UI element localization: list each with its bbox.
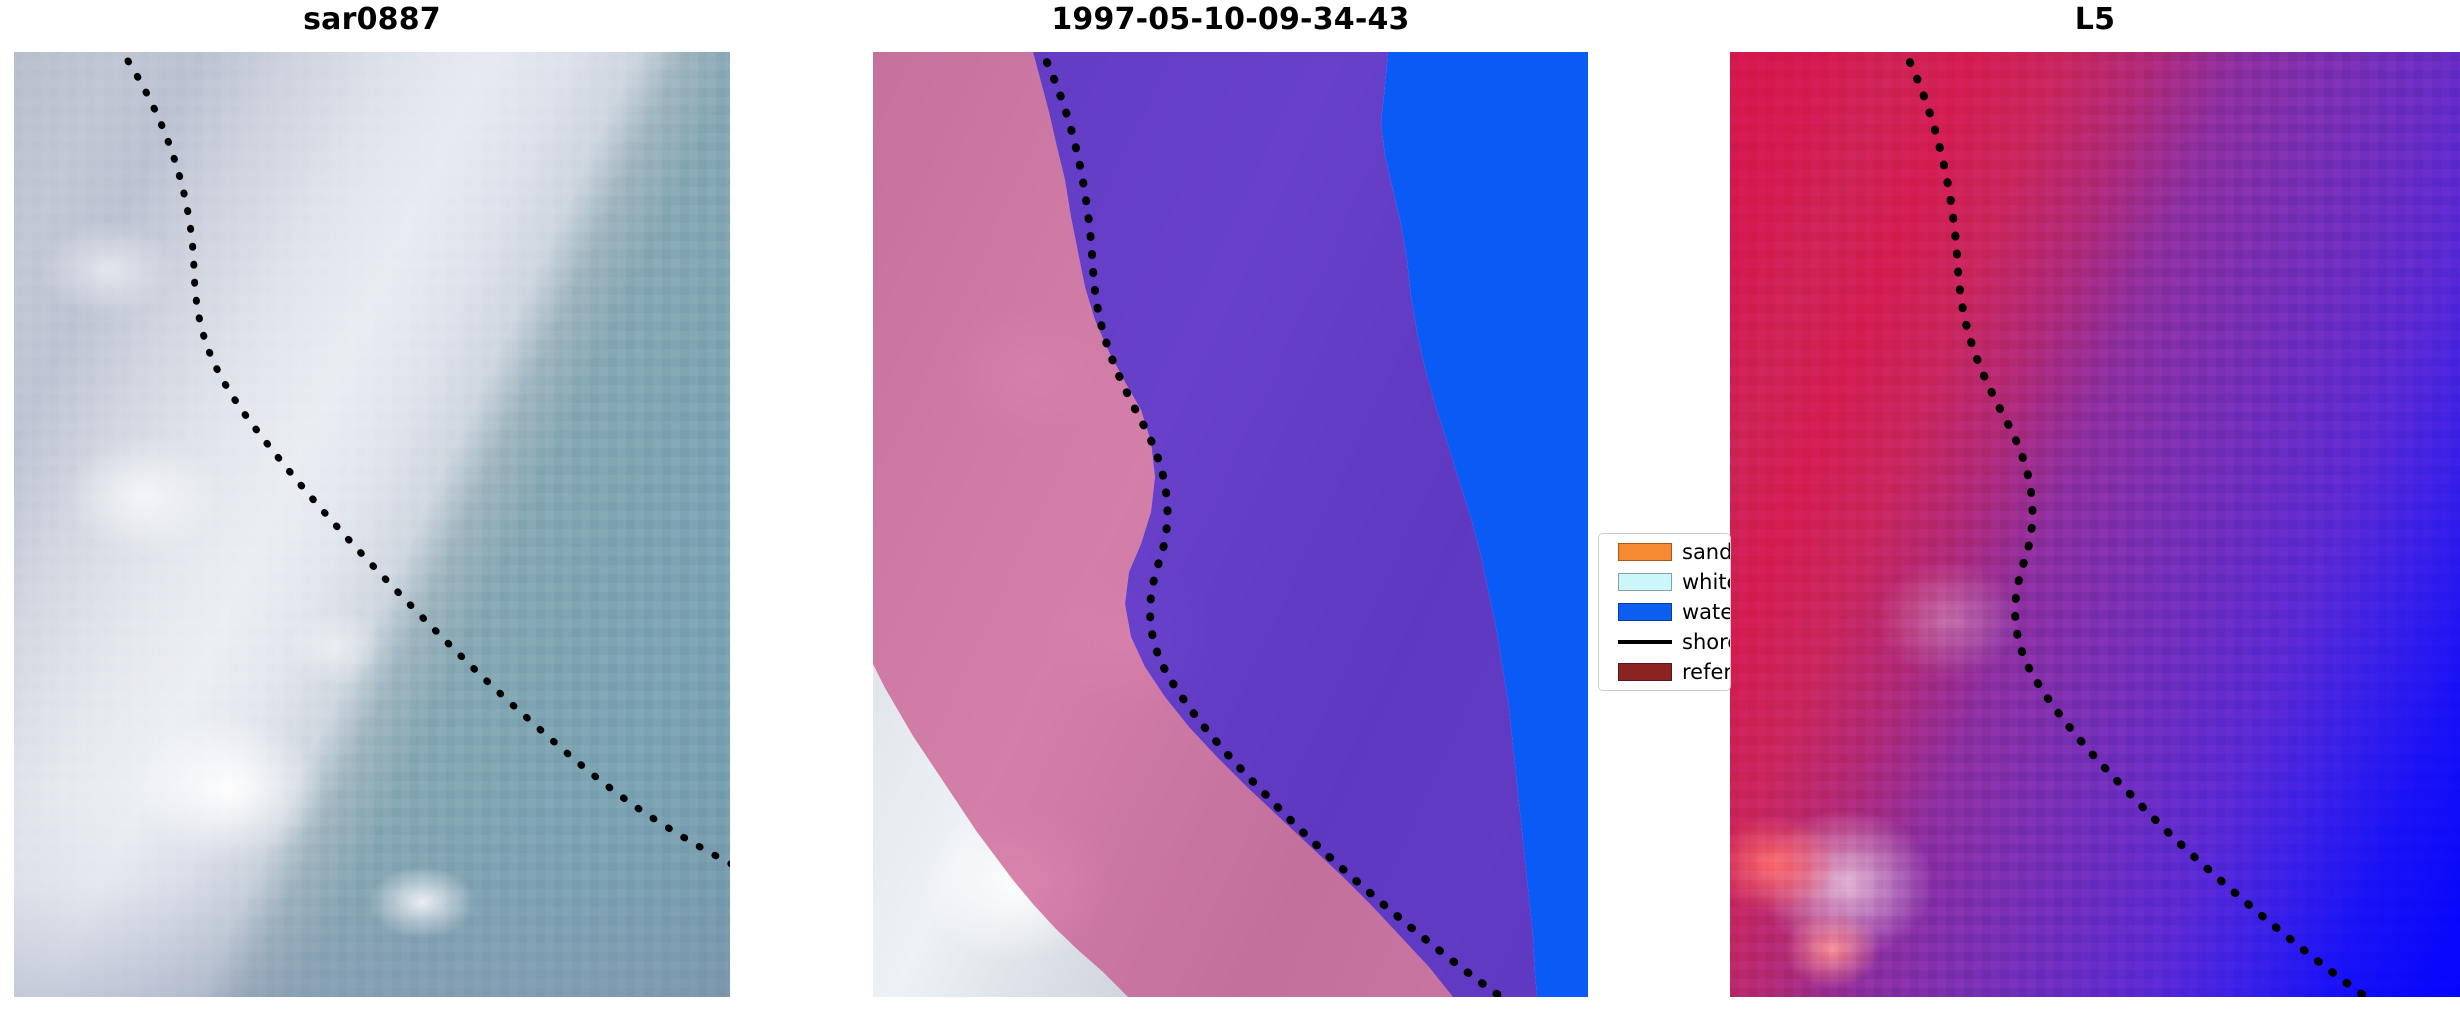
panel-sar[interactable] xyxy=(14,52,730,997)
class-legend[interactable]: sand whitewater water shoreline referenc… xyxy=(1598,533,1731,691)
legend-item-reference-shoreline[interactable]: reference shoreline xyxy=(1599,662,1731,682)
water-swatch-icon xyxy=(1618,603,1672,621)
legend-label-whitewater: whitewater xyxy=(1682,572,1731,593)
panel-title-l5: L5 xyxy=(1730,0,2460,40)
legend-label-water: water xyxy=(1682,602,1731,623)
shoreline-overlay-sar xyxy=(14,52,730,997)
panel-l5[interactable] xyxy=(1730,52,2460,997)
legend-item-whitewater[interactable]: whitewater xyxy=(1599,572,1731,592)
reference-shoreline-swatch-icon xyxy=(1618,663,1672,681)
sand-swatch-icon xyxy=(1618,543,1672,561)
legend-item-shoreline[interactable]: shoreline xyxy=(1599,632,1731,652)
panel-classified[interactable] xyxy=(873,52,1588,997)
legend-item-sand[interactable]: sand xyxy=(1599,542,1731,562)
figure-canvas: sar0887 1997-05-10-09-34-43 L5 xyxy=(0,0,2460,1011)
legend-label-shoreline: shoreline xyxy=(1682,632,1731,653)
whitewater-swatch-icon xyxy=(1618,573,1672,591)
shoreline-overlay-classified xyxy=(873,52,1588,997)
legend-item-water[interactable]: water xyxy=(1599,602,1731,622)
legend-label-reference-shoreline: reference shoreline xyxy=(1682,662,1731,683)
panel-title-classified: 1997-05-10-09-34-43 xyxy=(873,0,1588,40)
shoreline-line-icon xyxy=(1618,633,1672,651)
shoreline-overlay-l5 xyxy=(1730,52,2460,997)
panel-title-sar: sar0887 xyxy=(14,0,730,40)
legend-label-sand: sand xyxy=(1682,542,1731,563)
